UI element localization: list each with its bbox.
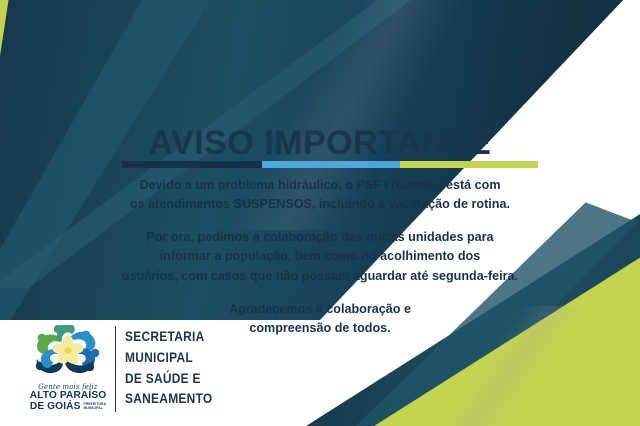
tagline-line-2: MUNICIPAL [83, 406, 102, 410]
department-line: MUNICIPAL [125, 348, 213, 369]
city-slogan: Gente mais feliz [38, 382, 97, 391]
logo-lockup: Gente mais feliz ALTO PARAÍSO DE GOIÁS P… [30, 325, 224, 412]
notice-line: Devido a um problema hidráulico, o PSF I… [139, 178, 500, 192]
notice-body: Devido a um problema hidráulico, o PSF I… [96, 176, 544, 338]
department-line: DE SAÚDE E [125, 369, 213, 390]
rule-segment-green [400, 161, 538, 168]
notice-line: os atendimentos SUSPENSOS, incluindo a v… [130, 197, 510, 211]
notice-line: compreensão de todos. [249, 321, 390, 335]
state-name: DE GOIÁS [30, 402, 81, 412]
city-name-block: ALTO PARAÍSO DE GOIÁS PREFEITURA MUNICIP… [30, 391, 106, 412]
pinwheel-people-flower-icon [31, 325, 105, 381]
rule-segment-navy [122, 161, 262, 168]
notice-line: Agradecemos a colaboração e [229, 302, 411, 316]
page-title: AVISO IMPORTANTE [0, 126, 640, 160]
department-line: SANEAMENTO [125, 389, 213, 410]
notice-paragraph-2: Por ora, pedimos a colaboração das outra… [96, 228, 544, 285]
notice-line: informar a população, bem como no acolhi… [160, 249, 480, 263]
rule-segment-blue [262, 161, 400, 168]
logo-divider [115, 326, 116, 412]
notice-paragraph-1: Devido a um problema hidráulico, o PSF I… [96, 176, 544, 214]
city-emblem: Gente mais feliz ALTO PARAÍSO DE GOIÁS P… [30, 325, 106, 412]
prefecture-tagline: PREFEITURA MUNICIPAL [83, 403, 106, 412]
notice-line: usuários, com casos que não possam aguar… [122, 269, 518, 283]
title-underline-rule [122, 161, 538, 168]
department-name: SECRETARIA MUNICIPAL DE SAÚDE E SANEAMEN… [125, 327, 213, 410]
notice-line: Por ora, pedimos a colaboração das outra… [146, 230, 493, 244]
department-line: SECRETARIA [125, 327, 213, 348]
poster-canvas: AVISO IMPORTANTE Devido a um problema hi… [0, 0, 640, 426]
